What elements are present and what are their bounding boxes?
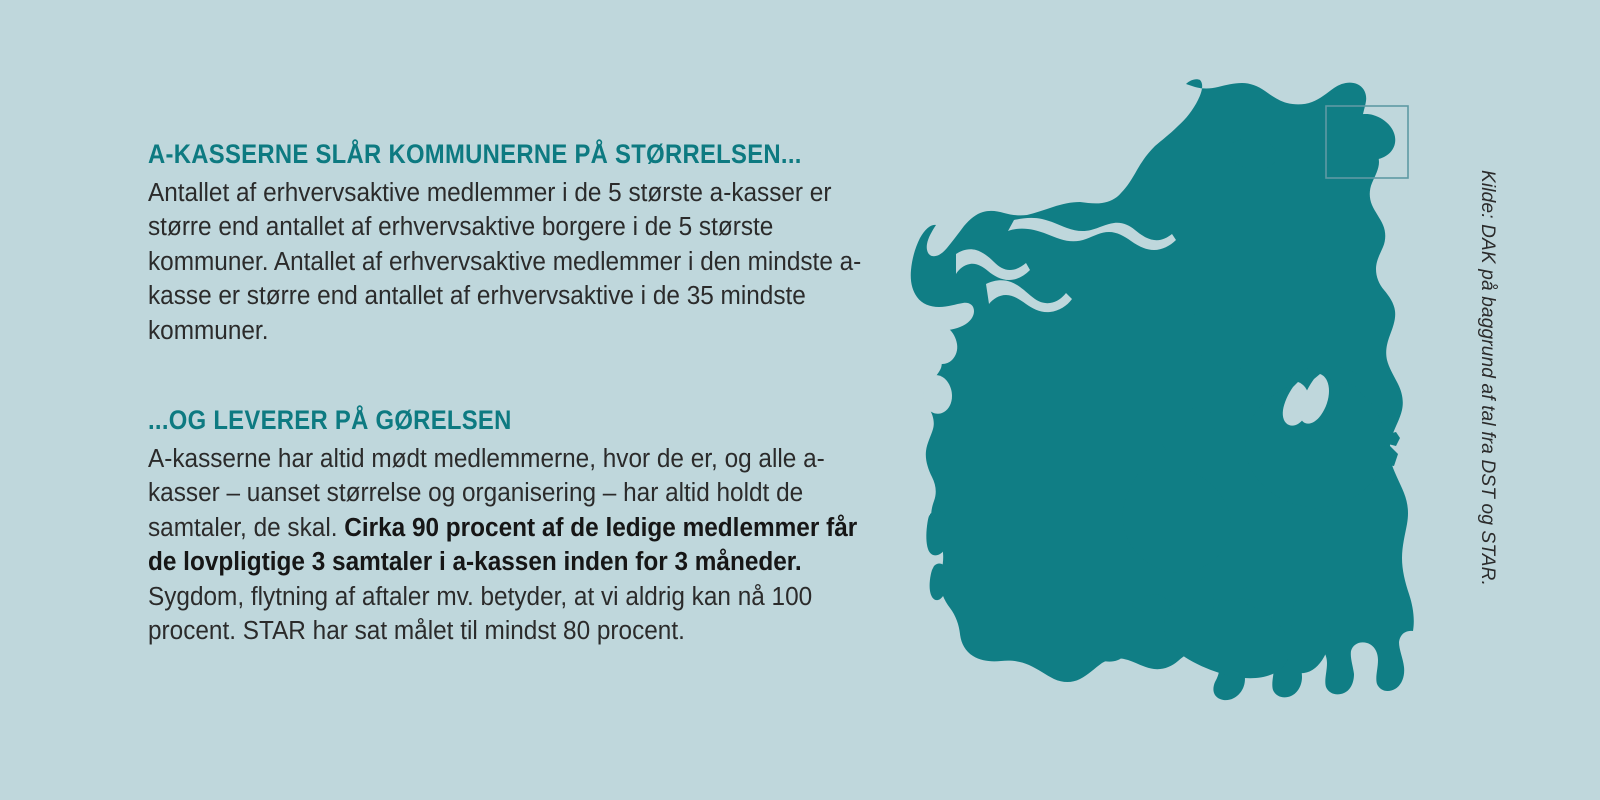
section-body-gorelsen: A-kasserne har altid mødt medlemmerne, h…: [148, 442, 874, 649]
body-run: Sygdom, flytning af aftaler mv. betyder,…: [148, 583, 812, 646]
source-credit: Kilde: DAK på baggrund af tal fra DST og…: [1476, 170, 1498, 586]
section-heading-gorelsen: ...OG LEVERER PÅ GØRELSEN: [148, 406, 832, 436]
section-gorelsen: ...OG LEVERER PÅ GØRELSEN A-kasserne har…: [148, 406, 908, 649]
denmark-map: [890, 78, 1470, 708]
section-heading-storrelsen: A-KASSERNE SLÅR KOMMUNERNE PÅ STØRRELSEN…: [148, 140, 832, 170]
text-column: A-KASSERNE SLÅR KOMMUNERNE PÅ STØRRELSEN…: [148, 140, 908, 649]
denmark-map-svg: [890, 78, 1470, 708]
section-body-storrelsen: Antallet af erhvervsaktive medlemmer i d…: [148, 176, 874, 349]
infographic-canvas: A-KASSERNE SLÅR KOMMUNERNE PÅ STØRRELSEN…: [0, 0, 1600, 800]
section-storrelsen: A-KASSERNE SLÅR KOMMUNERNE PÅ STØRRELSEN…: [148, 140, 908, 348]
body-run: Antallet af erhvervsaktive medlemmer i d…: [148, 179, 861, 345]
